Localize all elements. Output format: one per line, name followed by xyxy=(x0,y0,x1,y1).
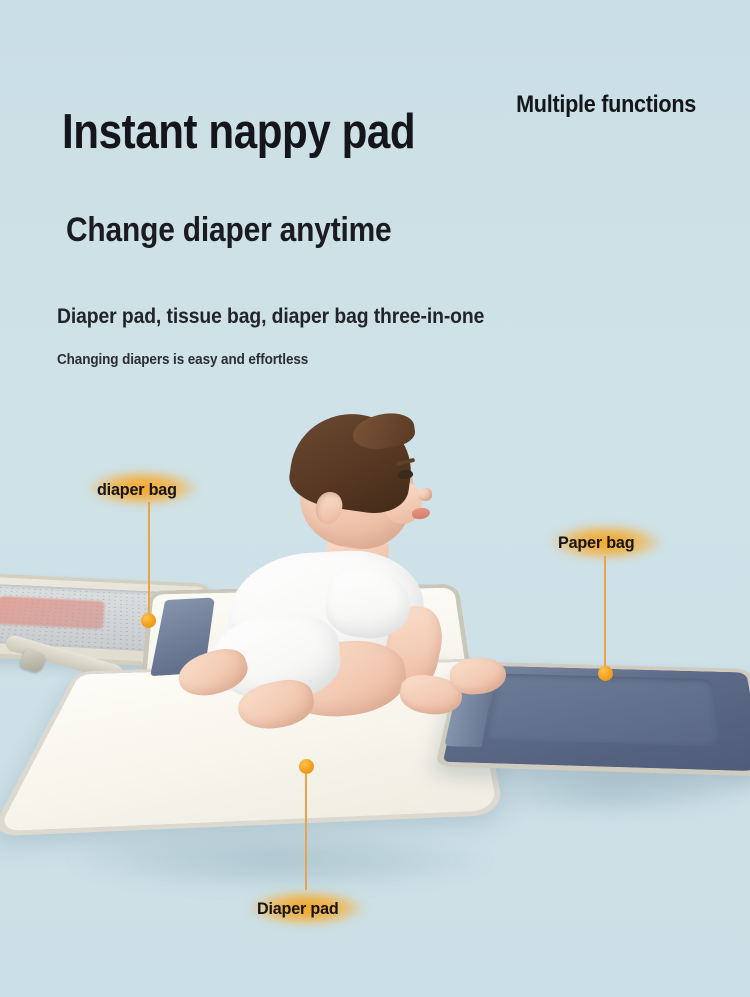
leader-line-diaper-pad xyxy=(305,770,307,890)
leader-dot-diaper-bag xyxy=(141,613,156,628)
callout-label-diaper-pad[interactable]: Diaper pad xyxy=(257,899,339,919)
leader-line-paper-bag xyxy=(604,556,606,674)
baby-mouth xyxy=(411,507,430,520)
feature-tagline: Diaper pad, tissue bag, diaper bag three… xyxy=(57,306,484,327)
leader-dot-paper-bag xyxy=(598,666,613,681)
baby-nose xyxy=(417,487,433,502)
supporting-copy: Changing diapers is easy and effortless xyxy=(57,353,308,368)
baby-subject xyxy=(150,400,530,730)
pocket-contents xyxy=(0,596,104,629)
baby-hand-right xyxy=(449,656,507,696)
product-banner: Instant nappy pad Change diaper anytime … xyxy=(0,0,750,997)
multiple-functions-badge: Multiple functions xyxy=(516,90,696,121)
callout-label-diaper-bag[interactable]: diaper bag xyxy=(97,480,177,500)
mat-drop-shadow xyxy=(70,830,490,890)
flap-drop-shadow xyxy=(470,768,750,816)
page-title: Instant nappy pad xyxy=(62,108,415,157)
leader-line-diaper-bag xyxy=(148,502,150,620)
callout-label-paper-bag[interactable]: Paper bag xyxy=(558,533,634,553)
leader-dot-diaper-pad xyxy=(299,759,314,774)
page-subtitle: Change diaper anytime xyxy=(66,213,392,247)
